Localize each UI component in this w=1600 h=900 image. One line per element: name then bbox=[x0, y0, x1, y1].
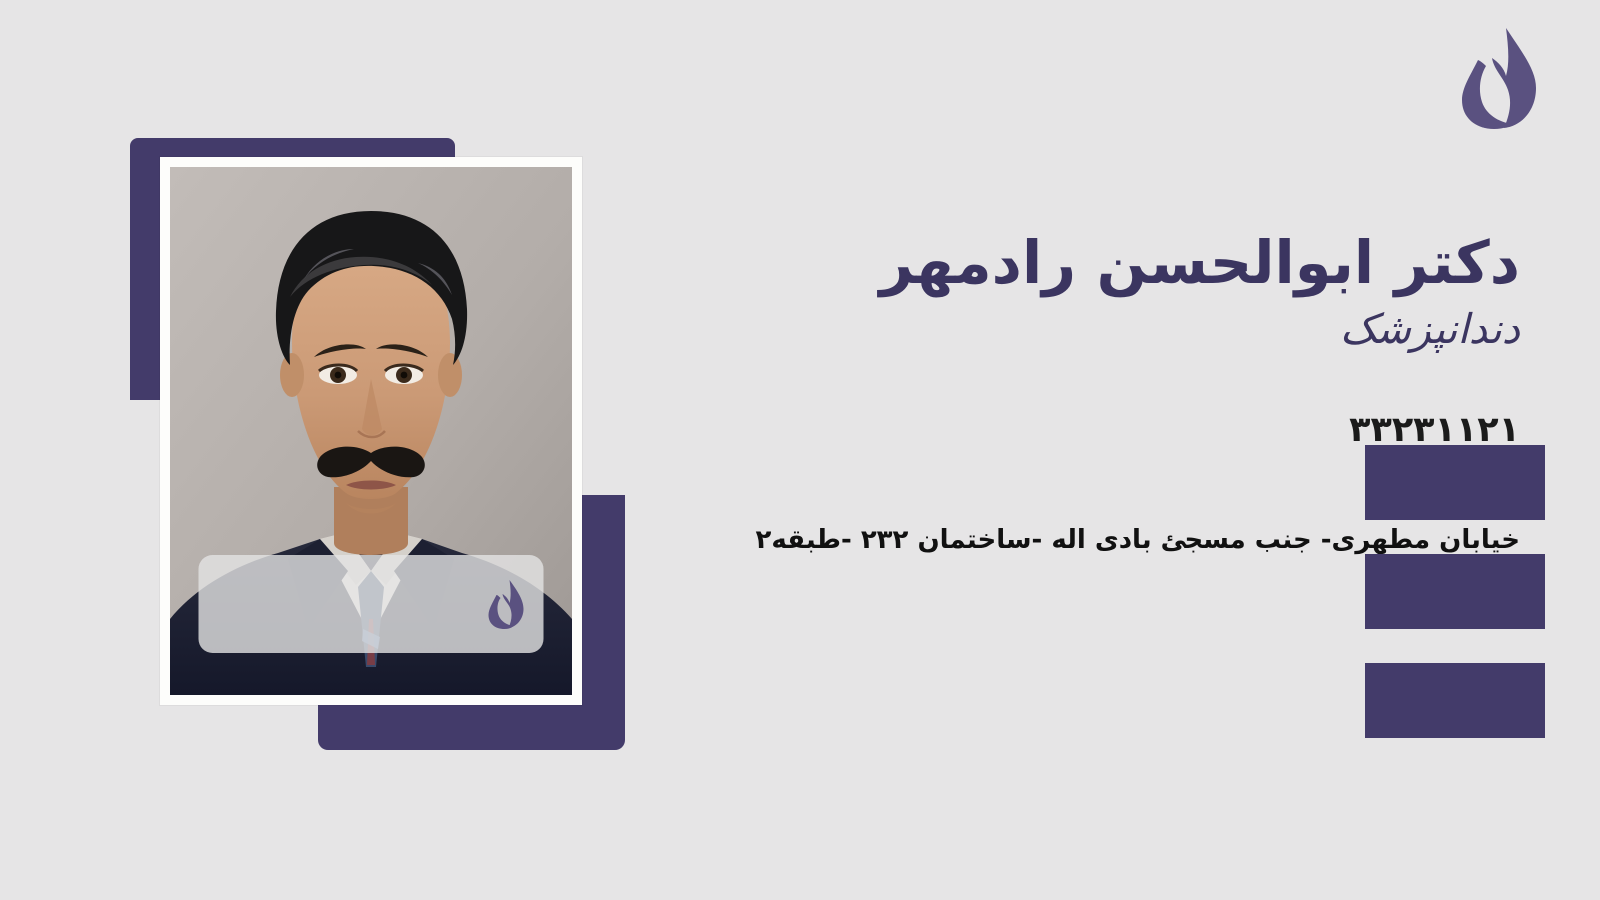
decor-bar-2 bbox=[1365, 554, 1545, 629]
photo-block: اکسیریاب bbox=[0, 0, 700, 900]
watermark-flame-icon bbox=[483, 579, 525, 629]
photo-watermark: اکسیریاب bbox=[199, 555, 544, 653]
decor-bar-1 bbox=[1365, 445, 1545, 520]
doctor-name: دکتر ابوالحسن رادمهر bbox=[730, 0, 1520, 298]
phone-row[interactable]: ۳۳۲۳۱۱۲۱ bbox=[730, 355, 1520, 459]
photo-frame: اکسیریاب bbox=[160, 157, 582, 705]
doctor-photo: اکسیریاب bbox=[170, 167, 572, 695]
watermark-wordmark: اکسیریاب bbox=[217, 579, 477, 629]
doctor-profile-card: اکسیریاب bbox=[0, 0, 1600, 900]
decor-bar-3 bbox=[1365, 663, 1545, 738]
phone-number[interactable]: ۳۳۲۳۱۱۲۱ bbox=[1349, 410, 1520, 450]
doctor-specialty: دندانپزشک bbox=[730, 298, 1520, 355]
decor-bars bbox=[1365, 445, 1545, 738]
